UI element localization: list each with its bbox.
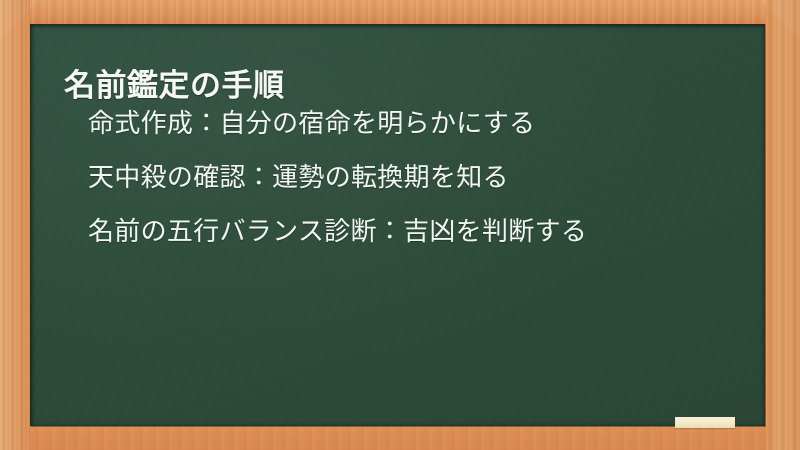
list-item: 天中殺の確認：運勢の転換期を知る xyxy=(88,164,728,190)
frame-left-rail xyxy=(0,0,30,450)
frame-right-rail xyxy=(766,0,800,450)
list-item: 名前の五行バランス診断：吉凶を判断する xyxy=(88,218,728,244)
page-title: 名前鑑定の手順 xyxy=(64,67,285,106)
slide-canvas: 名前鑑定の手順 命式作成：自分の宿命を明らかにする 天中殺の確認：運勢の転換期を… xyxy=(0,0,800,450)
chalk-stick-icon xyxy=(675,417,735,428)
list-item: 命式作成：自分の宿命を明らかにする xyxy=(88,110,728,136)
bullet-list: 命式作成：自分の宿命を明らかにする 天中殺の確認：運勢の転換期を知る 名前の五行… xyxy=(88,110,728,244)
chalkboard: 名前鑑定の手順 命式作成：自分の宿命を明らかにする 天中殺の確認：運勢の転換期を… xyxy=(30,24,765,426)
frame-top-rail xyxy=(0,0,800,26)
